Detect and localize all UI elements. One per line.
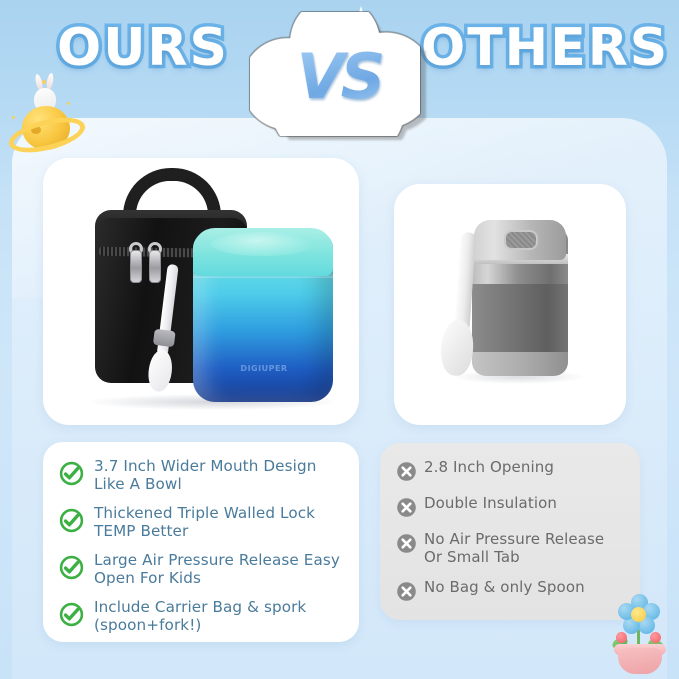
check-circle-icon — [59, 508, 84, 533]
spoon-handle — [454, 232, 476, 333]
check-circle-icon — [59, 602, 84, 627]
spork-bowl — [146, 348, 174, 392]
cross-circle-icon — [396, 497, 417, 518]
product-photo-card-others — [394, 184, 626, 425]
list-item: Thickened Triple Walled Lock TEMP Better — [59, 505, 345, 541]
list-item: Large Air Pressure Release Easy Open For… — [59, 552, 345, 588]
list-item-label: No Bag & only Spoon — [424, 579, 585, 597]
list-item: No Air Pressure Release Or Small Tab — [396, 531, 626, 566]
star-icon — [12, 116, 15, 119]
star-icon — [67, 102, 70, 105]
list-item: 3.7 Inch Wider Mouth Design Like A Bowl — [59, 458, 345, 494]
potted-flower-icon — [600, 592, 678, 676]
vs-badge: VS — [246, 6, 432, 146]
bunny-on-planet-icon — [4, 72, 90, 158]
spork-band — [153, 329, 176, 347]
ours-product-photo: DIGIUPER — [43, 158, 359, 425]
cross-circle-icon — [396, 581, 417, 602]
comparison-header: OURS OTHERS VS — [0, 0, 679, 118]
flower-center — [631, 607, 646, 622]
vs-label: VS — [246, 6, 432, 146]
food-jar-band-others — [472, 284, 568, 354]
feature-list-ours: 3.7 Inch Wider Mouth Design Like A Bowl … — [43, 442, 359, 642]
check-circle-icon — [59, 555, 84, 580]
star-icon — [42, 80, 46, 84]
product-photo-card-ours: DIGIUPER — [43, 158, 359, 425]
list-item-label: Include Carrier Bag & spork (spoon+fork!… — [94, 599, 345, 635]
blue-flower-icon — [618, 594, 660, 634]
list-item: No Bag & only Spoon — [396, 579, 626, 602]
list-item-label: Thickened Triple Walled Lock TEMP Better — [94, 505, 345, 541]
list-item-label: Large Air Pressure Release Easy Open For… — [94, 552, 345, 588]
list-item: Double Insulation — [396, 495, 626, 518]
list-item: 2.8 Inch Opening — [396, 459, 626, 482]
brand-logo: DIGIUPER — [228, 362, 300, 374]
spoon-bowl — [439, 319, 475, 377]
food-jar-base-others — [472, 352, 568, 376]
food-jar-lid-tab-others — [504, 230, 538, 250]
page-title-others: OTHERS — [421, 18, 669, 78]
list-item: Include Carrier Bag & spork (spoon+fork!… — [59, 599, 345, 635]
zipper-pull-1 — [130, 250, 142, 283]
check-circle-icon — [59, 461, 84, 486]
flower-pot — [618, 648, 662, 674]
food-jar-lid-top — [211, 232, 315, 256]
page-title-ours: OURS — [57, 18, 229, 78]
others-product-photo — [394, 184, 626, 425]
feature-list-card-ours: 3.7 Inch Wider Mouth Design Like A Bowl … — [43, 442, 359, 642]
list-item-label: No Air Pressure Release Or Small Tab — [424, 531, 626, 566]
list-item-label: Double Insulation — [424, 495, 557, 513]
list-item-label: 2.8 Inch Opening — [424, 459, 554, 477]
cross-circle-icon — [396, 533, 417, 554]
cross-circle-icon — [396, 461, 417, 482]
list-item-label: 3.7 Inch Wider Mouth Design Like A Bowl — [94, 458, 345, 494]
